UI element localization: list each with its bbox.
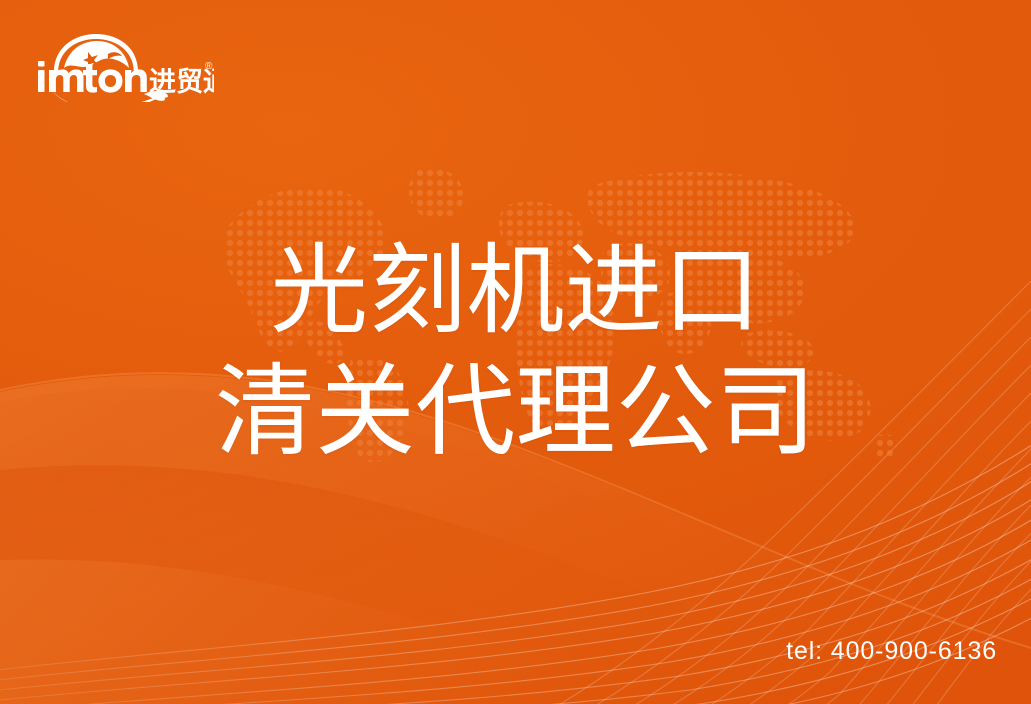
brand-logo[interactable]: 进贸通 ® — [34, 28, 214, 102]
logo-wordmark-latin — [38, 61, 147, 93]
trademark-icon: ® — [205, 61, 213, 72]
headline-line-1: 光刻机进口 — [0, 236, 1031, 344]
headline: 光刻机进口 清关代理公司 — [0, 236, 1031, 468]
headline-line-2: 清关代理公司 — [0, 356, 1031, 468]
logo-artwork: 进贸通 ® — [34, 28, 214, 102]
banner-canvas: 进贸通 ® 光刻机进口 清关代理公司 tel: 400-900-6136 — [0, 0, 1031, 704]
contact-telephone[interactable]: tel: 400-900-6136 — [786, 637, 997, 666]
globe-icon — [54, 34, 138, 75]
